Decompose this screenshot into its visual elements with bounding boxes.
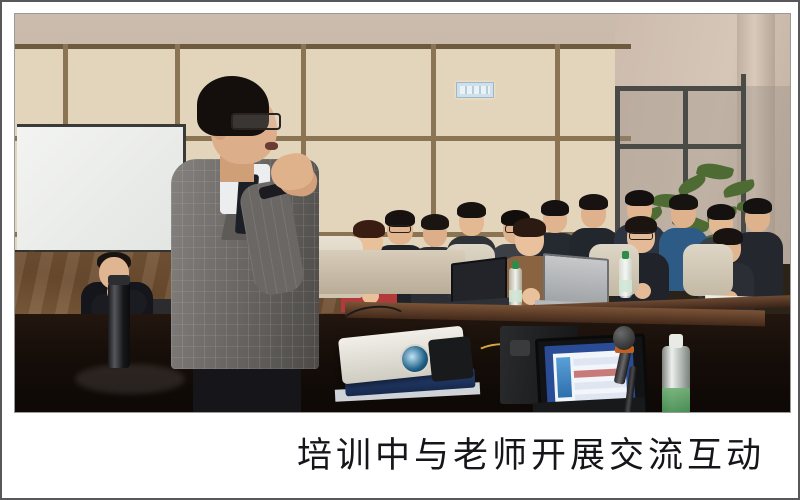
thermos: [108, 282, 130, 368]
presenter-glasses: [231, 113, 281, 130]
audience-hair: [669, 194, 698, 210]
projector-rear: [428, 336, 474, 382]
audience-hair: [353, 220, 385, 238]
table-reflection: [75, 364, 185, 394]
microphone-icon: [613, 326, 635, 350]
window-mullion: [615, 144, 745, 149]
audience-glasses: [389, 225, 411, 233]
audience-hair: [421, 214, 449, 230]
audience-hair: [541, 200, 569, 216]
audience-hair: [707, 204, 735, 220]
caption-text: 培训中与老师开展交流互动: [297, 427, 789, 478]
exit-sign-icon: [456, 82, 494, 98]
audience-hair: [625, 190, 654, 206]
whiteboard: [17, 124, 186, 255]
audience-hair: [457, 202, 486, 218]
training-room-photo: [14, 13, 791, 413]
caption-bar: 培训中与老师开展交流互动: [14, 416, 789, 488]
audience-glasses: [629, 232, 653, 240]
audience-hair: [713, 228, 743, 245]
water-bottle: [619, 258, 632, 298]
water-bottle: [662, 346, 690, 413]
screen-thumbnail: [556, 357, 572, 398]
audience-hair: [513, 218, 546, 237]
window-mullion: [615, 86, 745, 91]
photo-card: 培训中与老师开展交流互动: [0, 0, 800, 500]
photo-scene: [15, 14, 790, 412]
panel-line: [15, 44, 631, 49]
water-bottle: [509, 268, 522, 308]
audience-hair: [743, 198, 772, 214]
presenter-mouth: [265, 142, 278, 150]
audience-hair: [579, 194, 608, 210]
chair: [683, 244, 733, 296]
